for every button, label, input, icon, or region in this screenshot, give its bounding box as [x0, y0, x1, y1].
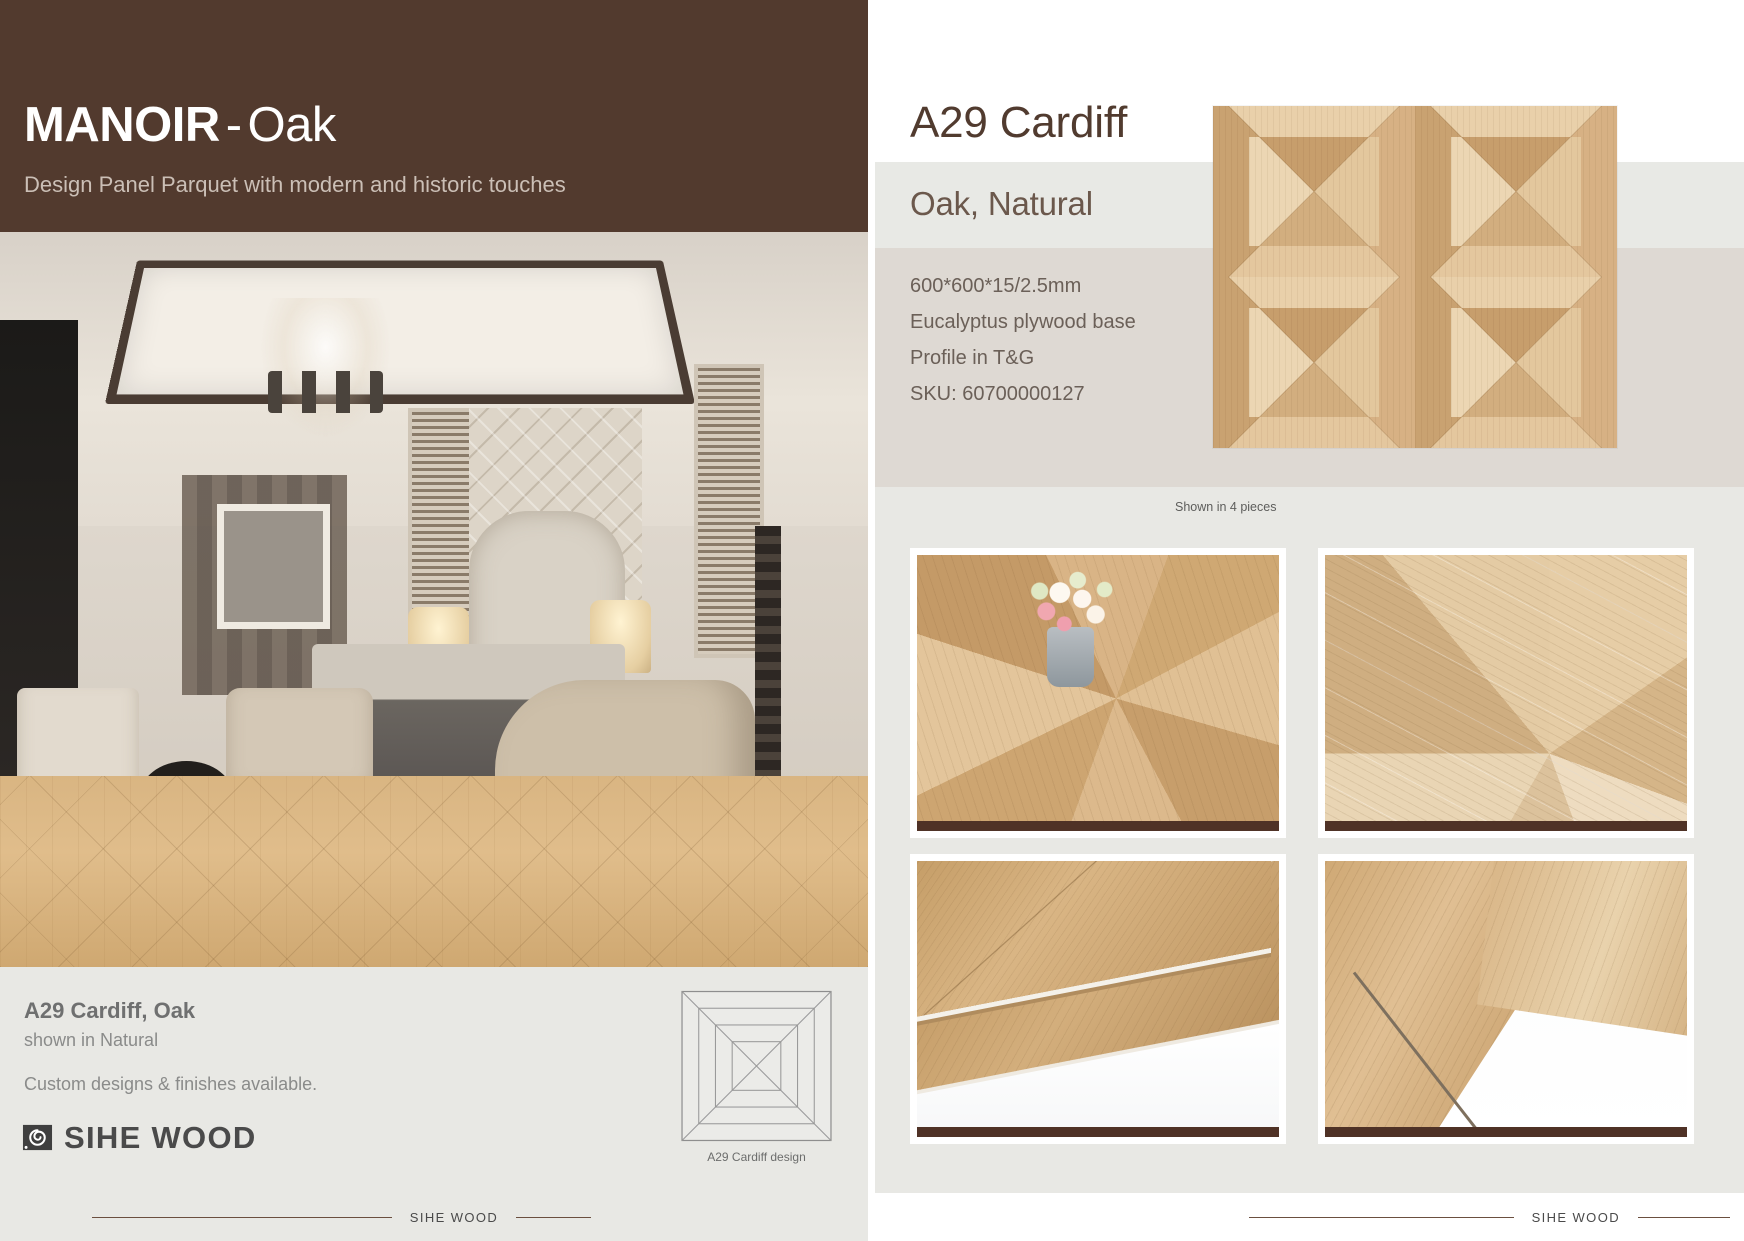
hero-title-main: MANOIR — [24, 98, 220, 152]
photo-parquet-chevron-closeup — [1318, 548, 1694, 838]
wood-grain — [1325, 555, 1687, 831]
product-caption-subtitle: shown in Natural — [24, 1030, 158, 1051]
swatch-caption: Shown in 4 pieces — [1175, 500, 1276, 514]
wood-grain — [1213, 277, 1415, 448]
spiral-logo-icon — [22, 1122, 53, 1153]
hero-banner: MANOIR-Oak Design Panel Parquet with mod… — [0, 0, 868, 232]
hero-subtitle: Design Panel Parquet with modern and his… — [24, 172, 566, 198]
footer-brand-left: SIHE WOOD — [392, 1210, 516, 1225]
left-page-footer: SIHE WOOD — [0, 1193, 868, 1241]
right-page: A29 Cardiff Oak, Natural 600*600*15/2.5m… — [875, 0, 1744, 1241]
spec-profile: Profile in T&G — [910, 340, 1136, 376]
wall-art — [217, 504, 330, 629]
parquet-swatch-image — [1213, 106, 1617, 448]
swatch-quadrant-top-left — [1213, 106, 1415, 277]
photo-bottom-strip — [917, 1127, 1279, 1137]
page-title: MANOIR-Oak — [24, 97, 336, 153]
photo-parquet-floor-with-flowers — [910, 548, 1286, 838]
footer-rule-right — [516, 1217, 591, 1218]
footer-brand-right: SIHE WOOD — [1514, 1210, 1638, 1225]
photo-bottom-strip — [917, 821, 1279, 831]
spec-dimensions: 600*600*15/2.5mm — [910, 268, 1136, 304]
brand-logo: SIHE WOOD — [22, 1122, 257, 1153]
right-page-footer: SIHE WOOD — [875, 1193, 1744, 1241]
photo-panel-edge-stack — [910, 854, 1286, 1144]
product-caption-note: Custom designs & finishes available. — [24, 1074, 317, 1095]
footer-rule-right — [1638, 1217, 1730, 1218]
interior-room-photo — [0, 232, 868, 967]
chandelier-icon — [260, 298, 390, 438]
swatch-quadrant-bottom-right — [1415, 277, 1617, 448]
wood-grain — [1415, 106, 1617, 277]
product-subtitle: Oak, Natural — [910, 185, 1093, 223]
swatch-quadrant-top-right — [1415, 106, 1617, 277]
hero-title-dash: - — [220, 98, 248, 152]
product-photo-grid — [910, 548, 1710, 1178]
product-spec-list: 600*600*15/2.5mm Eucalyptus plywood base… — [910, 268, 1136, 412]
footer-rule-left — [92, 1217, 392, 1218]
left-page: MANOIR-Oak Design Panel Parquet with mod… — [0, 0, 868, 1241]
footer-rule-left — [1249, 1217, 1514, 1218]
photo-bottom-strip — [1325, 1127, 1687, 1137]
swatch-quadrant-bottom-left — [1213, 277, 1415, 448]
design-diagram-caption: A29 Cardiff design — [679, 1150, 834, 1164]
product-caption-title: A29 Cardiff, Oak — [24, 998, 195, 1024]
spec-base: Eucalyptus plywood base — [910, 304, 1136, 340]
flower-bouquet — [1015, 563, 1127, 640]
parquet-floor — [0, 776, 868, 967]
hero-title-variant: Oak — [248, 98, 336, 152]
brand-name: SIHE WOOD — [64, 1122, 257, 1153]
wood-grain — [1415, 277, 1617, 448]
catalog-spread: MANOIR-Oak Design Panel Parquet with mod… — [0, 0, 1744, 1241]
wood-grain — [1213, 106, 1415, 277]
product-title: A29 Cardiff — [910, 98, 1127, 148]
photo-bottom-strip — [1325, 821, 1687, 831]
spec-sku: SKU: 60700000127 — [910, 376, 1136, 412]
design-pattern-diagram — [679, 990, 834, 1142]
louver-door-right — [694, 364, 763, 658]
photo-tongue-and-groove-corner — [1318, 854, 1694, 1144]
